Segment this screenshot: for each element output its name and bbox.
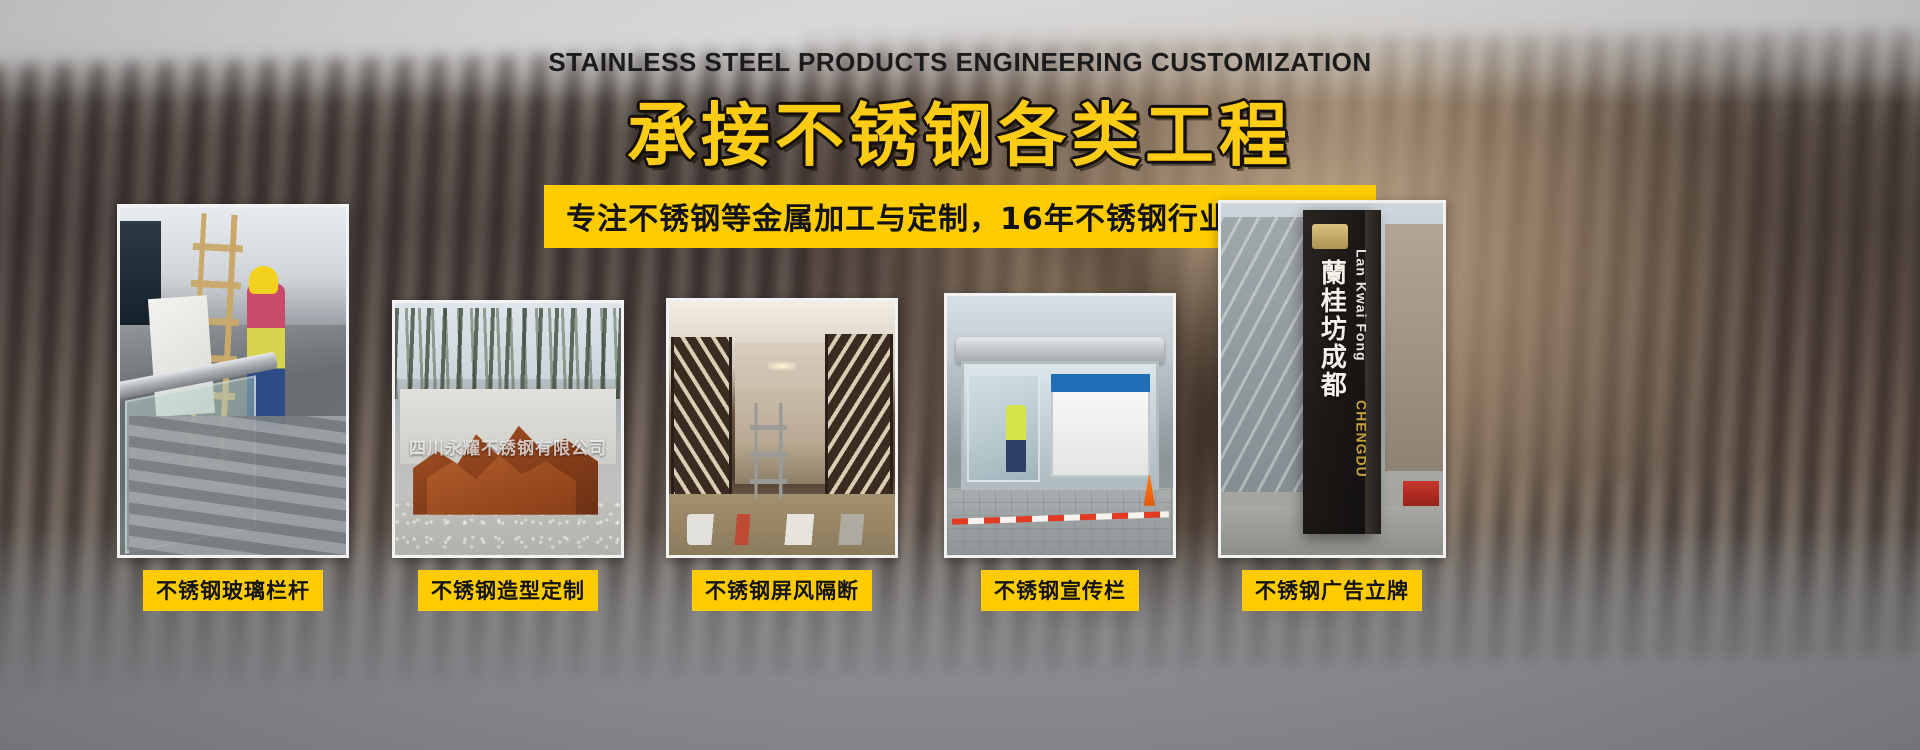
photo5-building-right (1385, 224, 1443, 470)
product-card-shape-custom[interactable]: 四川永耀不锈钢有限公司 不锈钢造型定制 (392, 300, 624, 611)
product-gallery: 不锈钢玻璃栏杆 四川永耀不锈钢有限公司 不锈钢造型定制 (0, 250, 1920, 690)
product-photo-frame (117, 204, 349, 558)
photo4-notice-header (1051, 374, 1150, 392)
photo3-screen-left (671, 337, 732, 500)
product-caption-advertising-pylon: 不锈钢广告立牌 (1242, 570, 1422, 611)
product-card-screen-partition[interactable]: 不锈钢屏风隔断 (666, 298, 898, 611)
product-image-glass-railing (120, 207, 346, 555)
caption-container: 不锈钢广告立牌 (1218, 570, 1446, 611)
photo5-red-shopfront (1403, 481, 1439, 506)
product-photo-frame: 蘭桂坊成都 Lan Kwai Fong CHENGDU (1218, 200, 1446, 558)
caption-container: 不锈钢玻璃栏杆 (117, 570, 349, 611)
product-image-shape-custom: 四川永耀不锈钢有限公司 (395, 303, 621, 555)
product-caption-glass-railing: 不锈钢玻璃栏杆 (143, 570, 323, 611)
promotional-banner: STAINLESS STEEL PRODUCTS ENGINEERING CUS… (0, 0, 1920, 750)
photo3-screen-right (825, 334, 893, 502)
photo3-wall-lamp (768, 362, 795, 370)
product-caption-bulletin-board: 不锈钢宣传栏 (981, 570, 1139, 611)
photo5-sign-chinese: 蘭桂坊成都 (1310, 259, 1346, 421)
product-card-glass-railing[interactable]: 不锈钢玻璃栏杆 (117, 204, 349, 611)
photo5-sign-english-gold: CHENGDU (1348, 400, 1370, 520)
photo5-sign-english: Lan Kwai Fong (1348, 249, 1370, 390)
product-image-screen-partition (669, 301, 895, 555)
photo3-ladder (750, 403, 786, 500)
caption-container: 不锈钢宣传栏 (944, 570, 1176, 611)
photo5-logo-badge (1312, 224, 1348, 249)
product-image-advertising-pylon: 蘭桂坊成都 Lan Kwai Fong CHENGDU (1221, 203, 1443, 555)
photo4-shelter-roof (956, 337, 1164, 363)
product-image-bulletin-board (947, 296, 1173, 555)
caption-container: 不锈钢屏风隔断 (666, 570, 898, 611)
photo3-tools (687, 514, 877, 544)
product-photo-frame (666, 298, 898, 558)
product-caption-shape-custom: 不锈钢造型定制 (418, 570, 598, 611)
photo4-glass-panel (967, 374, 1039, 483)
product-photo-frame: 四川永耀不锈钢有限公司 (392, 300, 624, 558)
product-card-bulletin-board[interactable]: 不锈钢宣传栏 (944, 293, 1176, 611)
product-card-advertising-pylon[interactable]: 蘭桂坊成都 Lan Kwai Fong CHENGDU 不锈钢广告立牌 (1218, 200, 1446, 611)
photo1-hardhat (249, 266, 278, 294)
photo4-worker (1006, 405, 1026, 472)
chinese-headline: 承接不锈钢各类工程 (0, 79, 1920, 179)
product-caption-screen-partition: 不锈钢屏风隔断 (692, 570, 872, 611)
photo1-glass-panel (125, 375, 256, 554)
caption-container: 不锈钢造型定制 (392, 570, 624, 611)
english-headline: STAINLESS STEEL PRODUCTS ENGINEERING CUS… (0, 47, 1920, 78)
product-photo-frame (944, 293, 1176, 558)
photo2-trees (395, 308, 621, 399)
